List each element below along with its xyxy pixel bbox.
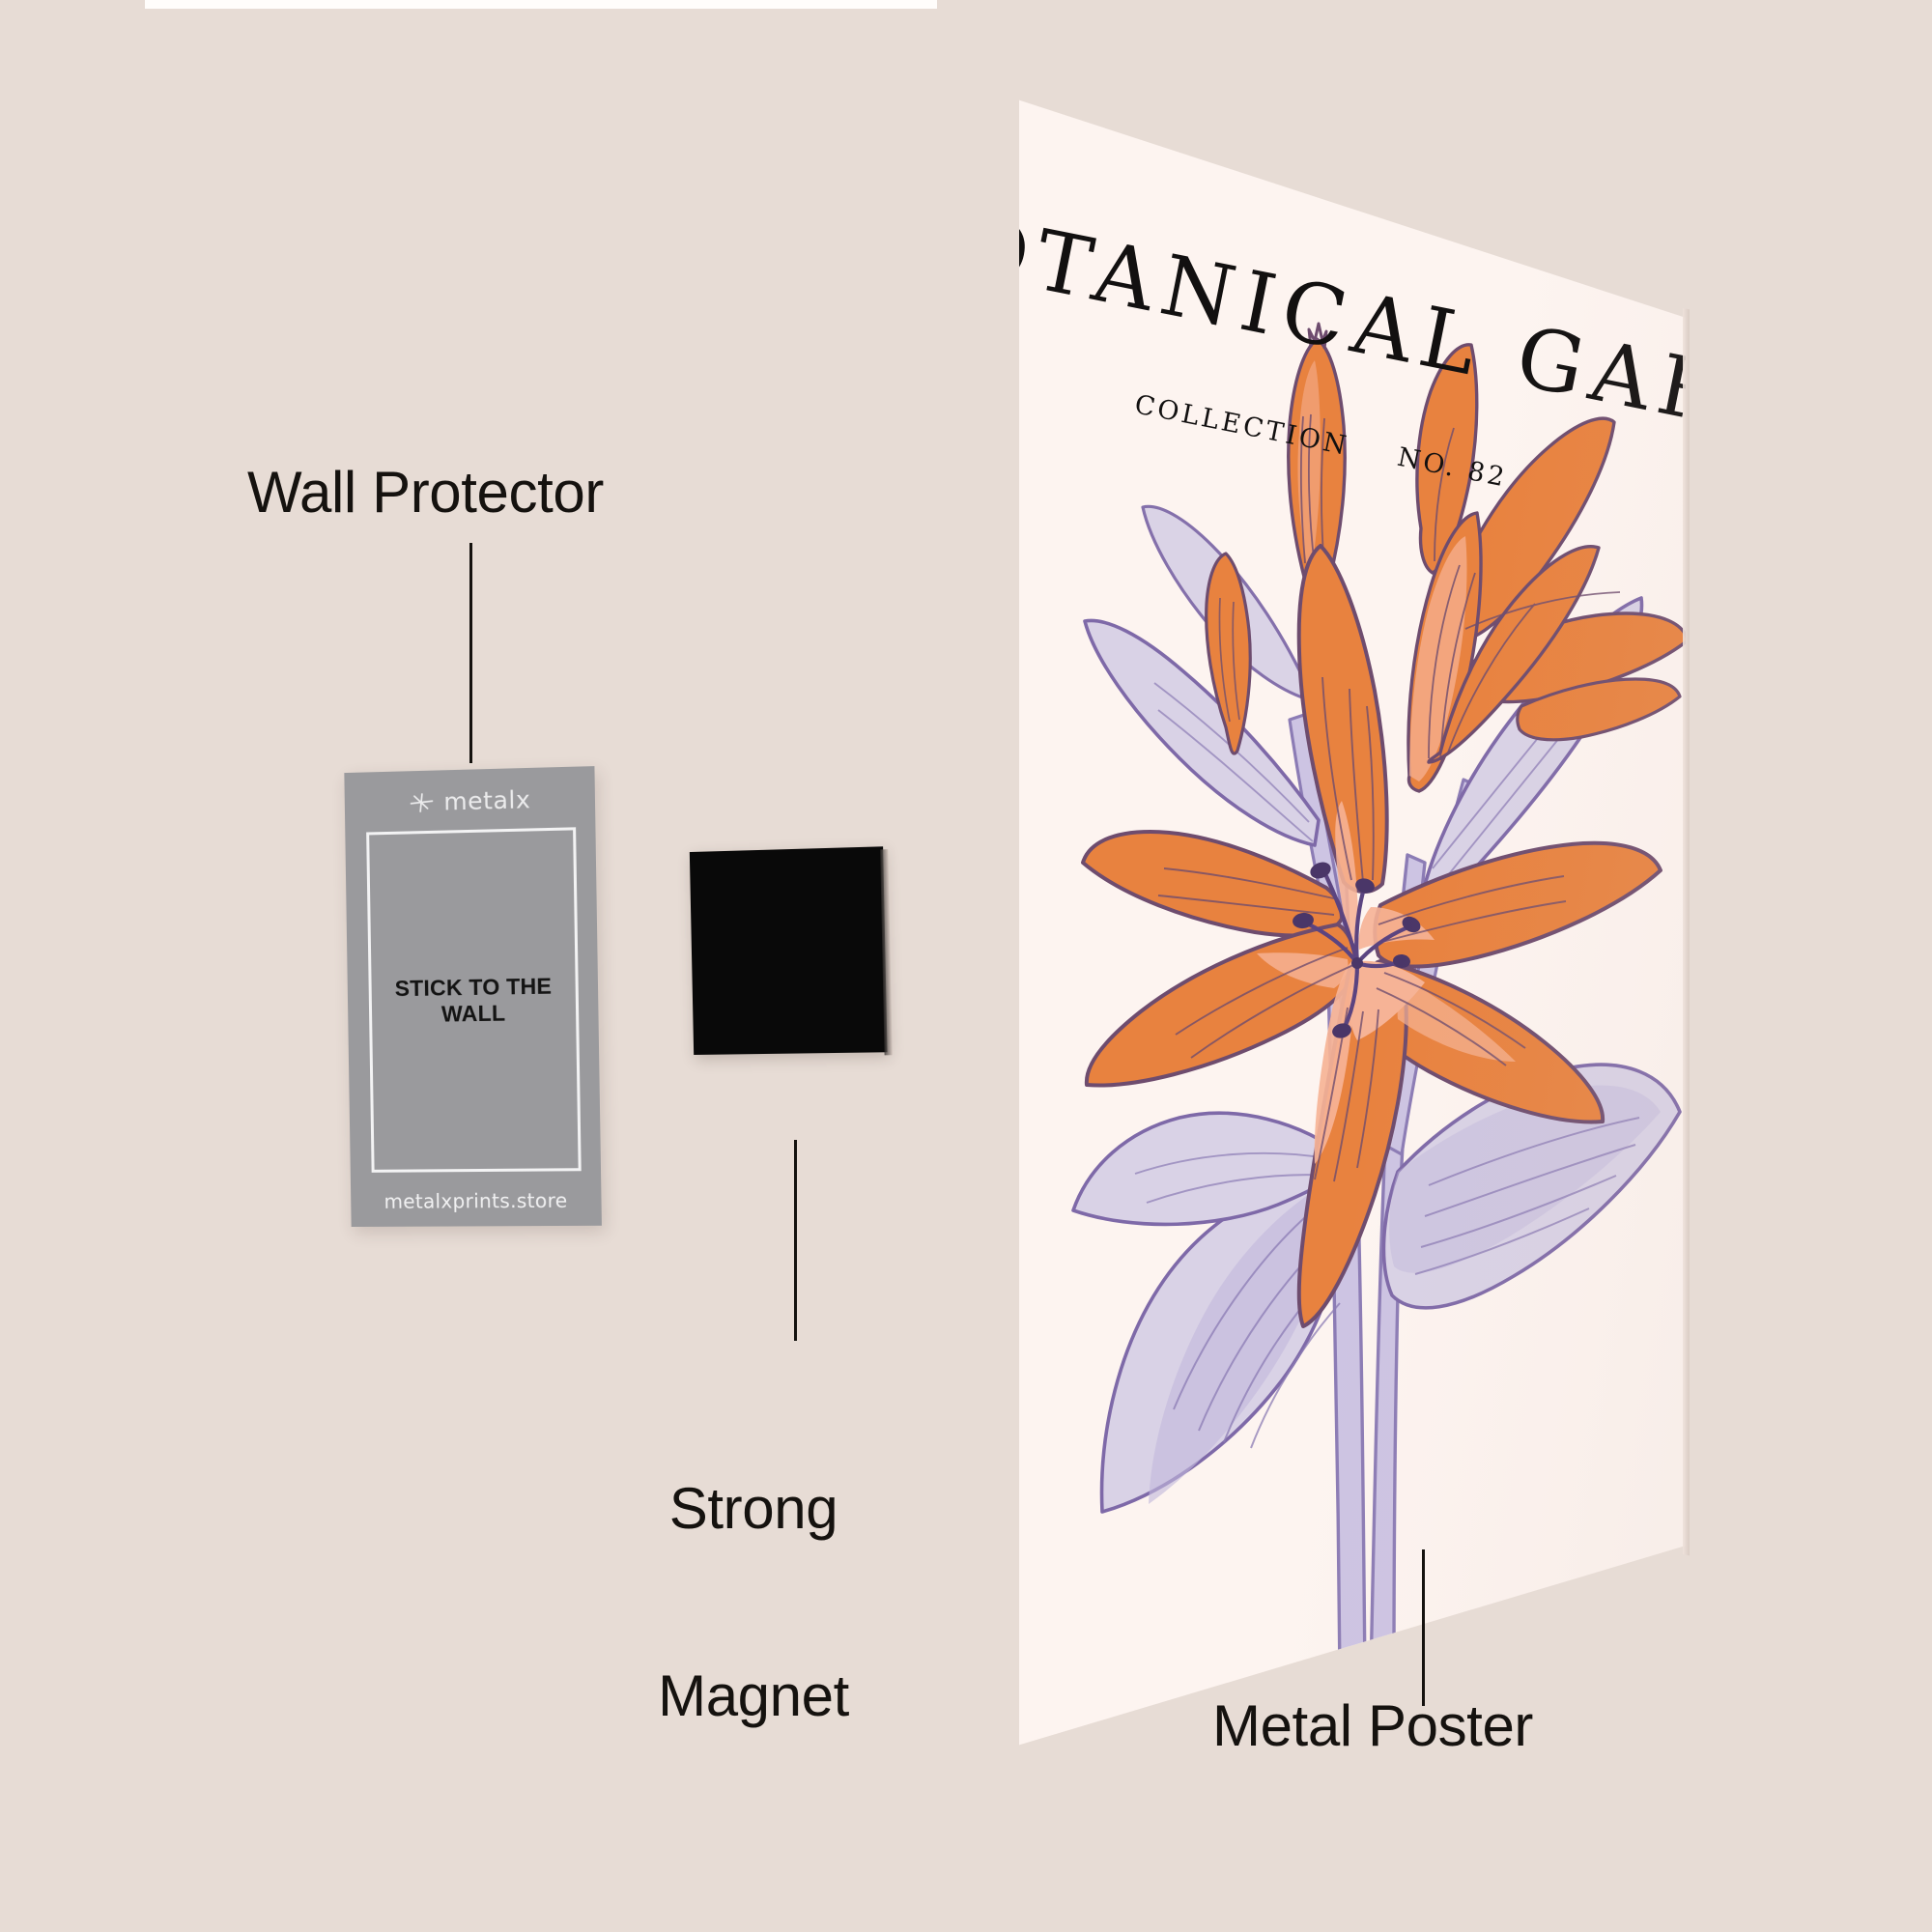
store-url-text: metalxprints.store — [351, 1188, 602, 1213]
metalx-logo: metalx — [345, 783, 596, 818]
strong-magnet-square — [690, 846, 888, 1055]
callout-label-strong-magnet-line1: Strong — [628, 1478, 879, 1541]
callout-label-strong-magnet: Strong Magnet — [628, 1352, 879, 1853]
callout-label-metal-poster: Metal Poster — [1212, 1695, 1533, 1758]
wall-protector-inner-frame: STICK TO THE WALL — [366, 827, 582, 1173]
poster-face: OTANICAL GARDEN COLLECTION NO. 82 — [1019, 92, 1686, 1753]
leader-line-metal-poster — [1422, 1549, 1425, 1706]
product-infographic-canvas: Wall Protector metalx STICK TO THE WALL … — [0, 0, 1932, 1932]
callout-label-wall-protector: Wall Protector — [247, 462, 604, 525]
poster-right-edge — [1683, 308, 1690, 1555]
top-white-strip — [145, 0, 937, 9]
metalx-cross-icon — [408, 788, 435, 816]
leader-line-strong-magnet — [794, 1140, 797, 1341]
callout-label-strong-magnet-line2: Magnet — [628, 1665, 879, 1728]
stick-to-the-wall-text: STICK TO THE WALL — [371, 973, 576, 1029]
metal-poster: OTANICAL GARDEN COLLECTION NO. 82 — [1019, 92, 1686, 1753]
magnet-edge-bevel — [880, 849, 893, 1055]
metalx-logo-text: metalx — [443, 785, 531, 815]
leader-line-wall-protector — [469, 543, 472, 763]
wall-protector-card: metalx STICK TO THE WALL metalxprints.st… — [344, 766, 602, 1227]
